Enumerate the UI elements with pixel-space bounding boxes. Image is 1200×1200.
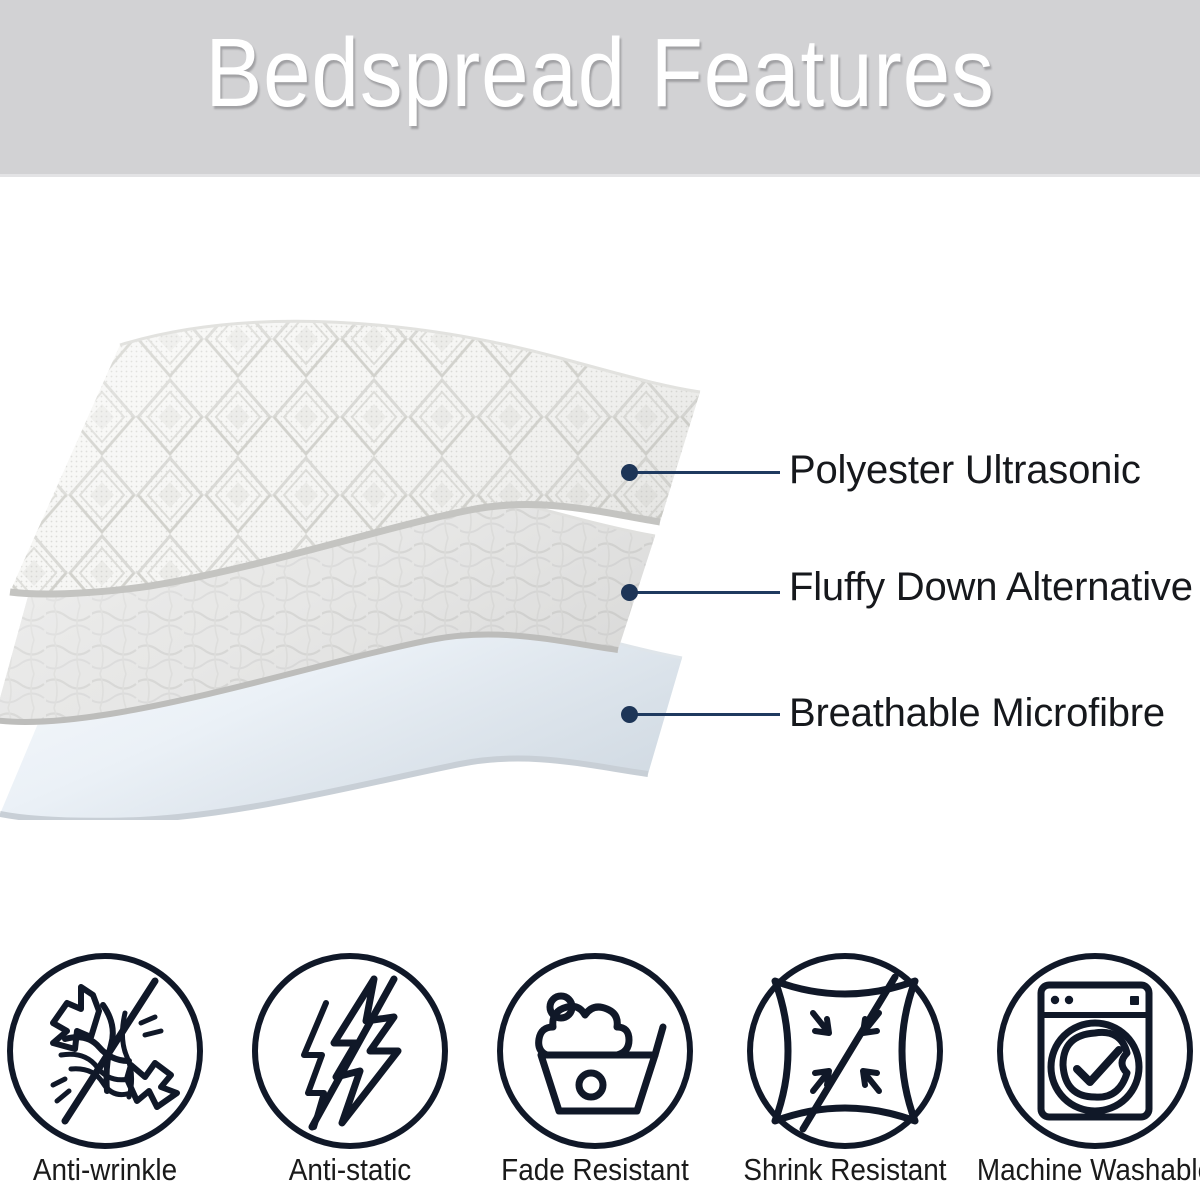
- feature-label-machine-washable: Machine Washable: [977, 1152, 1200, 1188]
- infographic-page: Bedspread Features: [0, 0, 1200, 1200]
- layer-label-microfibre: Breathable Microfibre: [789, 691, 1165, 735]
- feature-machine-washable: Machine Washable: [975, 940, 1200, 1200]
- feature-shrink-resistant: Shrink Resistant: [725, 940, 965, 1200]
- leader-line-polyester: [635, 471, 780, 474]
- leader-dot-polyester: [621, 464, 638, 481]
- layer-label-down-alternative: Fluffy Down Alternative: [789, 565, 1193, 609]
- feature-anti-wrinkle: Anti-wrinkle: [0, 940, 225, 1200]
- feature-badge-row: Anti-wrinkle Anti-static: [0, 940, 1200, 1200]
- feature-fade-resistant: Fade Resistant: [475, 940, 715, 1200]
- leader-line-down-alternative: [635, 591, 780, 594]
- feature-label-anti-wrinkle: Anti-wrinkle: [33, 1152, 177, 1188]
- anti-static-icon: [250, 951, 450, 1151]
- leader-dot-microfibre: [621, 706, 638, 723]
- layer-diagram: [0, 300, 720, 820]
- anti-wrinkle-icon: [5, 951, 205, 1151]
- fade-resistant-icon: [495, 951, 695, 1151]
- feature-anti-static: Anti-static: [230, 940, 470, 1200]
- machine-washable-icon: [995, 951, 1195, 1151]
- header-band: Bedspread Features: [0, 0, 1200, 177]
- layer-label-polyester: Polyester Ultrasonic: [789, 448, 1141, 492]
- feature-label-fade-resistant: Fade Resistant: [501, 1152, 689, 1188]
- feature-label-shrink-resistant: Shrink Resistant: [743, 1152, 946, 1188]
- leader-line-microfibre: [635, 713, 780, 716]
- shrink-resistant-icon: [745, 951, 945, 1151]
- leader-dot-down-alternative: [621, 584, 638, 601]
- page-title: Bedspread Features: [72, 17, 1128, 129]
- feature-label-anti-static: Anti-static: [289, 1152, 411, 1188]
